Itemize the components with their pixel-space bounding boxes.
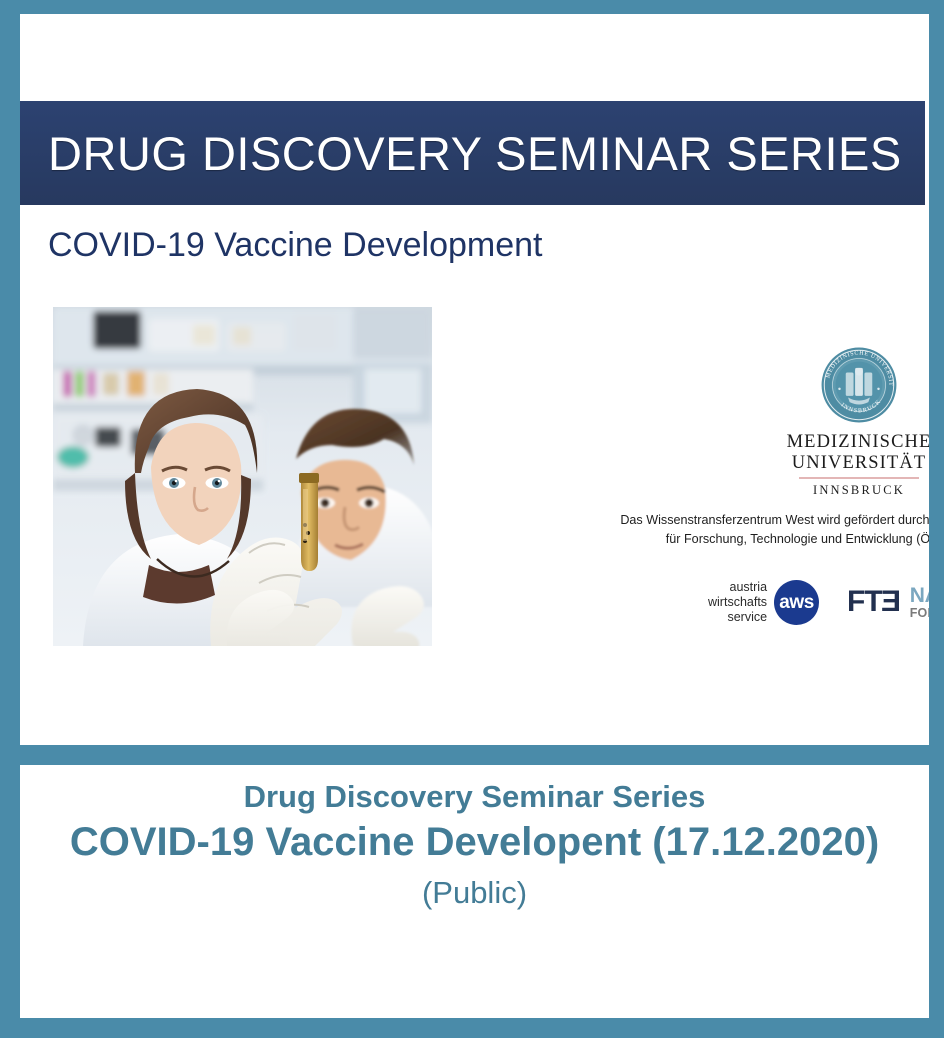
university-logo-block: MEDIZINISCHE UNIVERSITÄT INNSBRUCK MEDIZ… (780, 346, 929, 498)
slide-panel: DRUG DISCOVERY SEMINAR SERIES COVID-19 V… (20, 14, 929, 745)
aws-wordmark: austria wirtschafts service (708, 580, 767, 624)
aws-word-austria: austria (708, 580, 767, 595)
poster-frame: DRUG DISCOVERY SEMINAR SERIES COVID-19 V… (0, 0, 944, 1038)
fte-mark-e: E (882, 587, 901, 617)
university-name-line1: MEDIZINISCHE (787, 432, 929, 452)
funding-statement: Das Wissenstransferzentrum West wird gef… (568, 511, 929, 549)
university-name-line2: UNIVERSITÄT (792, 453, 926, 473)
fte-wordmark: NATIONAL FORSCHUNG (910, 585, 929, 620)
caption-panel: Drug Discovery Seminar Series COVID-19 V… (20, 765, 929, 1018)
medizinische-universitaet-innsbruck-seal-icon: MEDIZINISCHE UNIVERSITÄT INNSBRUCK (820, 346, 898, 424)
university-city: INNSBRUCK (780, 483, 929, 498)
lab-researchers-photo (53, 307, 432, 646)
caption-series-name: Drug Discovery Seminar Series (44, 777, 905, 817)
aws-logo: austria wirtschafts service aws (708, 580, 819, 625)
slide-header-banner: DRUG DISCOVERY SEMINAR SERIES (20, 101, 925, 205)
fte-word-national: NATIONAL (910, 585, 929, 607)
aws-word-wirtschafts: wirtschafts (708, 595, 767, 610)
fte-logo: FTE NATIONAL FORSCHUNG (847, 585, 929, 620)
university-divider (799, 477, 919, 479)
university-name: MEDIZINISCHE UNIVERSITÄT (780, 432, 929, 473)
slide-header-title: DRUG DISCOVERY SEMINAR SERIES (48, 130, 902, 177)
sponsor-logo-row: austria wirtschafts service aws FTE NATI… (708, 580, 929, 625)
aws-word-service: service (708, 610, 767, 625)
slide-subtitle: COVID-19 Vaccine Development (48, 226, 542, 265)
aws-circle-mark: aws (774, 580, 819, 625)
fte-word-forschung: FORSCHUNG (910, 607, 929, 620)
fte-mark-ft: FT (847, 585, 882, 618)
caption-title: COVID-19 Vaccine Developent (17.12.2020) (44, 819, 905, 865)
fte-mark: FTE (847, 587, 901, 617)
funding-line-1: Das Wissenstransferzentrum West wird gef… (568, 511, 929, 530)
caption-access-label: (Public) (44, 873, 905, 913)
funding-line-2: für Forschung, Technologie und Entwicklu… (568, 530, 929, 549)
lab-photo-graphic (53, 307, 432, 646)
